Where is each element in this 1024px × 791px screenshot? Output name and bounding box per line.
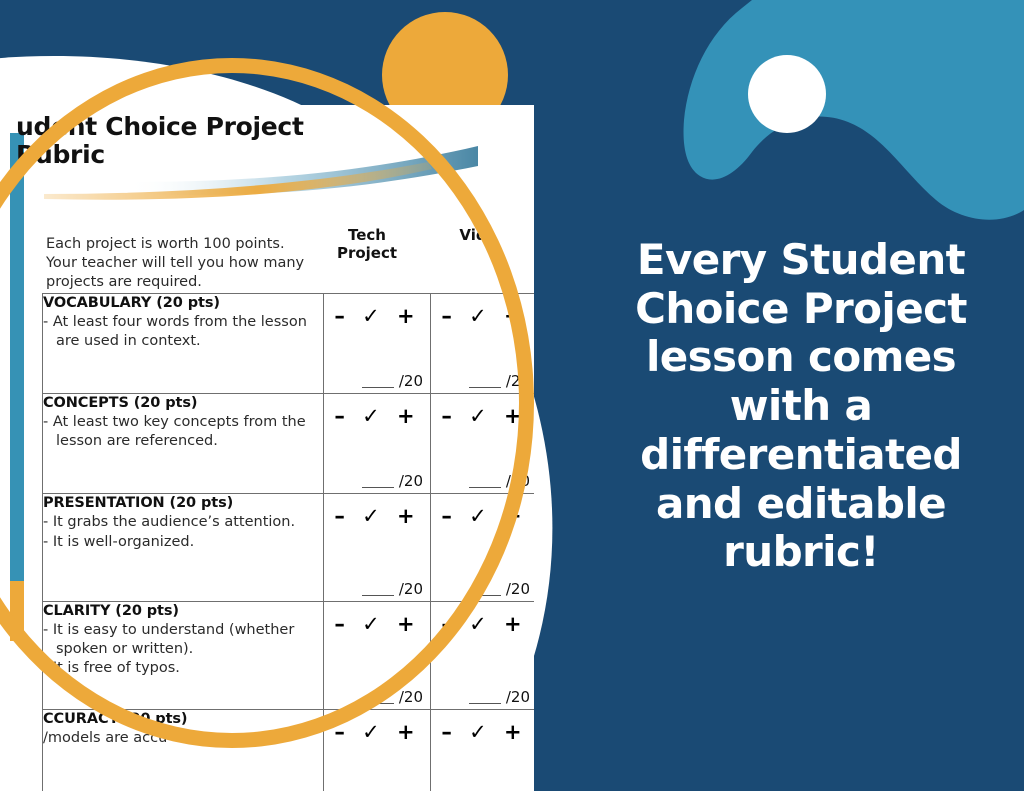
criterion-bullet: - It is easy to understand (whether spok… <box>43 621 323 658</box>
score-cell-tech[interactable]: – ✓ + /20 <box>324 394 431 494</box>
criterion-title: PRESENTATION (20 pts) <box>43 494 323 512</box>
score-total: /20 <box>506 372 530 390</box>
score-blank[interactable] <box>362 387 394 388</box>
score-cell-video[interactable]: – ✓ + <box>431 710 535 791</box>
criterion-bullet: - At least two key concepts from the les… <box>43 413 323 450</box>
score-total: /20 <box>399 688 423 706</box>
criterion-bullet: - It is well-organized. <box>43 533 323 552</box>
rubric-table-body: VOCABULARY (20 pts) - At least four word… <box>43 294 535 791</box>
table-row: CCURACY (20 pts) /models are accu – ✓ + … <box>43 710 535 791</box>
criterion-title: VOCABULARY (20 pts) <box>43 294 323 312</box>
score-total: /20 <box>506 688 530 706</box>
promo-graphic-canvas: udent Choice Project Rubric <box>0 0 1024 791</box>
document-intro-text: Each project is worth 100 points. Your t… <box>46 235 308 293</box>
criterion-cell-clarity: CLARITY (20 pts) - It is easy to underst… <box>43 602 324 710</box>
score-blank[interactable] <box>362 703 394 704</box>
score-marks[interactable]: – ✓ + <box>431 294 534 328</box>
score-tally[interactable]: /20 <box>362 472 423 490</box>
score-blank[interactable] <box>362 595 394 596</box>
criterion-title: CCURACY (20 pts) <box>43 710 323 728</box>
score-total: /20 <box>399 472 423 490</box>
score-total: /20 <box>506 580 530 598</box>
criterion-cell-vocabulary: VOCABULARY (20 pts) - At least four word… <box>43 294 324 394</box>
score-total: /20 <box>399 372 423 390</box>
score-tally[interactable]: /20 <box>469 372 530 390</box>
score-total: /20 <box>399 580 423 598</box>
score-total: /20 <box>506 472 530 490</box>
criterion-bullets: /models are accu <box>43 729 323 748</box>
score-blank[interactable] <box>362 487 394 488</box>
score-cell-tech[interactable]: – ✓ + /20 <box>324 294 431 394</box>
column-header-line1: Vid <box>422 227 524 245</box>
column-header-line1: Tech <box>316 227 418 245</box>
table-row: VOCABULARY (20 pts) - At least four word… <box>43 294 535 394</box>
score-marks[interactable]: – ✓ + <box>431 602 534 636</box>
column-header-line2: Project <box>316 245 418 263</box>
score-tally[interactable]: /20 <box>469 580 530 598</box>
score-marks[interactable]: – ✓ + <box>324 494 430 528</box>
rubric-document: udent Choice Project Rubric <box>0 105 534 791</box>
score-cell-video[interactable]: – ✓ + /20 <box>431 394 535 494</box>
criterion-cell-concepts: CONCEPTS (20 pts) - At least two key con… <box>43 394 324 494</box>
score-tally[interactable]: /20 <box>362 688 423 706</box>
score-cell-tech[interactable]: – ✓ + <box>324 710 431 791</box>
score-cell-tech[interactable]: – ✓ + /20 <box>324 494 431 602</box>
score-marks[interactable]: – ✓ + <box>324 602 430 636</box>
table-row: CLARITY (20 pts) - It is easy to underst… <box>43 602 535 710</box>
criterion-bullets: - It grabs the audience’s attention. - I… <box>43 513 323 551</box>
column-header-video-project: Vid <box>422 227 524 245</box>
score-marks[interactable]: – ✓ + <box>431 494 534 528</box>
score-blank[interactable] <box>469 703 501 704</box>
score-marks[interactable]: – ✓ + <box>324 394 430 428</box>
header-swoosh-decoration <box>8 160 478 208</box>
score-tally[interactable]: /20 <box>469 472 530 490</box>
criterion-bullets: - At least two key concepts from the les… <box>43 413 323 450</box>
score-cell-tech[interactable]: – ✓ + /20 <box>324 602 431 710</box>
column-header-tech-project: Tech Project <box>316 227 418 262</box>
score-tally[interactable]: /20 <box>469 688 530 706</box>
score-cell-video[interactable]: – ✓ + /20 <box>431 602 535 710</box>
criterion-bullet: - It is free of typos. <box>43 659 323 678</box>
criterion-title: CONCEPTS (20 pts) <box>43 394 323 412</box>
criterion-bullet: /models are accu <box>43 729 323 748</box>
criterion-title: CLARITY (20 pts) <box>43 602 323 620</box>
criterion-bullets: - At least four words from the lesson ar… <box>43 313 323 350</box>
criterion-cell-accuracy: CCURACY (20 pts) /models are accu <box>43 710 324 791</box>
score-tally[interactable]: /20 <box>362 372 423 390</box>
score-marks[interactable]: – ✓ + <box>324 294 430 328</box>
score-cell-video[interactable]: – ✓ + /20 <box>431 294 535 394</box>
score-cell-video[interactable]: – ✓ + /20 <box>431 494 535 602</box>
score-marks[interactable]: – ✓ + <box>324 710 430 744</box>
table-row: PRESENTATION (20 pts) - It grabs the aud… <box>43 494 535 602</box>
score-marks[interactable]: – ✓ + <box>431 710 534 744</box>
table-row: CONCEPTS (20 pts) - At least two key con… <box>43 394 535 494</box>
criterion-bullet: - It grabs the audience’s attention. <box>43 513 323 532</box>
criterion-cell-presentation: PRESENTATION (20 pts) - It grabs the aud… <box>43 494 324 602</box>
criterion-bullet: - At least four words from the lesson ar… <box>43 313 323 350</box>
score-blank[interactable] <box>469 387 501 388</box>
score-blank[interactable] <box>469 595 501 596</box>
rubric-table: VOCABULARY (20 pts) - At least four word… <box>42 293 534 791</box>
score-marks[interactable]: – ✓ + <box>431 394 534 428</box>
document-side-strip-orange <box>10 581 24 641</box>
headline-text: Every Student Choice Project lesson come… <box>596 236 1006 577</box>
score-blank[interactable] <box>469 487 501 488</box>
criterion-bullets: - It is easy to understand (whether spok… <box>43 621 323 678</box>
score-tally[interactable]: /20 <box>362 580 423 598</box>
